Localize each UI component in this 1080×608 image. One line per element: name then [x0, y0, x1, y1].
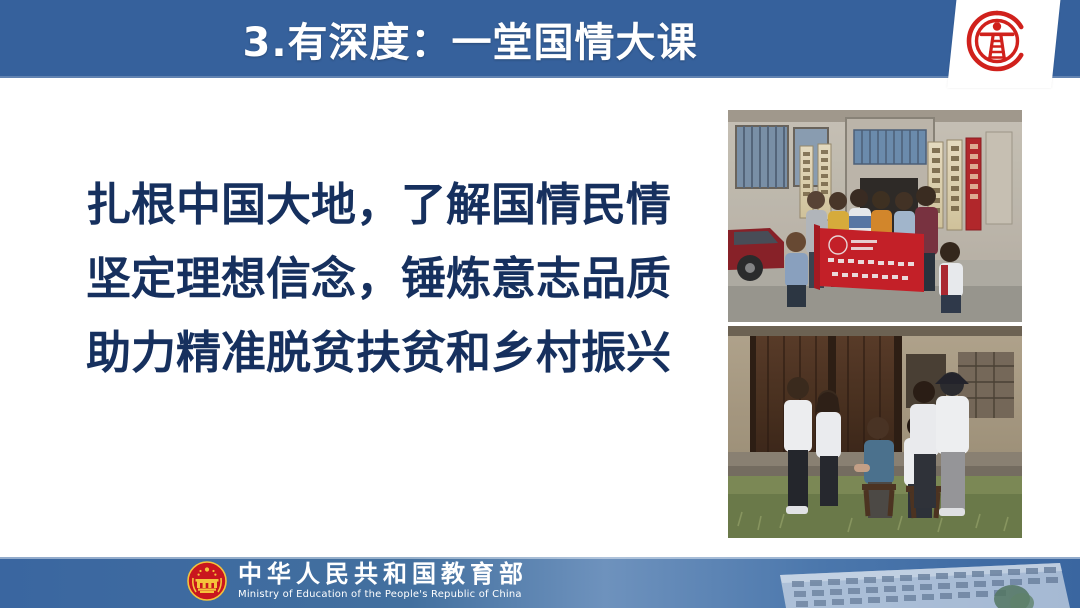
headline-line-2: 坚定理想信念，锤炼意志品质: [86, 242, 686, 316]
footer-text-group: 中华人民共和国教育部 Ministry of Education of the …: [238, 561, 528, 602]
footer-brand: 中华人民共和国教育部 Ministry of Education of the …: [186, 560, 528, 602]
photo-village-banner: [728, 110, 1022, 322]
national-emblem-icon: [186, 560, 228, 602]
page-title: 3.有深度：一堂国情大课: [0, 0, 940, 78]
headline-line-1: 扎根中国大地，了解国情民情: [86, 168, 686, 242]
headline-block: 扎根中国大地，了解国情民情 坚定理想信念，锤炼意志品质 助力精准脱贫扶贫和乡村振…: [86, 168, 686, 390]
footer-band: 中华人民共和国教育部 Ministry of Education of the …: [0, 557, 1080, 608]
photo-village-interview: [728, 326, 1022, 538]
footer-title-cn: 中华人民共和国教育部: [238, 561, 528, 588]
ministry-building-photo: [660, 557, 1080, 608]
university-emblem-logo-icon: [963, 7, 1031, 75]
footer-title-en: Ministry of Education of the People's Re…: [238, 588, 528, 602]
headline-line-3: 助力精准脱贫扶贫和乡村振兴: [86, 316, 686, 390]
slide-canvas: 3.有深度：一堂国情大课 扎根中国大地，了解国情民情 坚定理想信念，锤炼意志品质: [0, 0, 1080, 608]
